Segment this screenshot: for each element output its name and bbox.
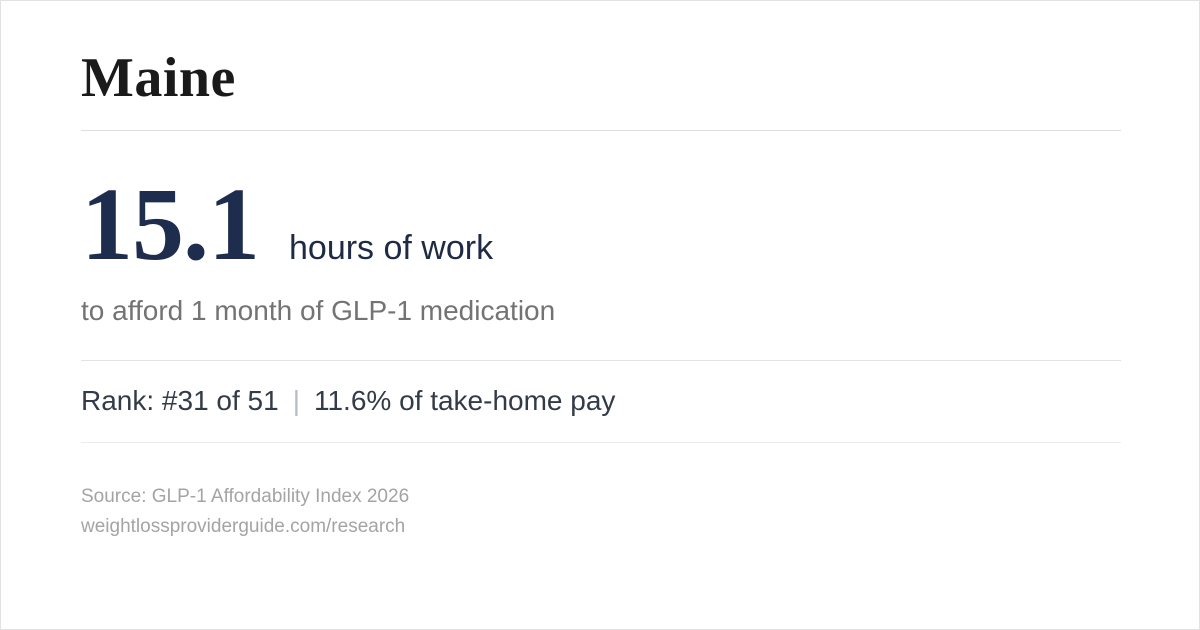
page-title: Maine [81, 47, 236, 109]
divider-top [81, 130, 1121, 131]
stat-card: Maine 15.1 hours of work to afford 1 mon… [0, 0, 1200, 630]
divider-middle [81, 360, 1121, 361]
stats-separator: | [293, 384, 300, 418]
site-line: weightlossproviderguide.com/research [81, 512, 409, 542]
source-line: Source: GLP-1 Affordability Index 2026 [81, 482, 409, 512]
divider-bottom [81, 442, 1121, 443]
hero-unit-label: hours of work [289, 231, 493, 265]
footer: Source: GLP-1 Affordability Index 2026 w… [81, 482, 409, 542]
hero-subtitle: to afford 1 month of GLP-1 medication [81, 294, 555, 328]
hero-stat: 15.1 hours of work [81, 173, 493, 277]
rank-label: Rank: #31 of 51 [81, 384, 279, 418]
stats-row: Rank: #31 of 51 | 11.6% of take-home pay [81, 384, 615, 418]
take-home-share-label: 11.6% of take-home pay [314, 384, 615, 418]
hero-value: 15.1 [81, 173, 259, 277]
